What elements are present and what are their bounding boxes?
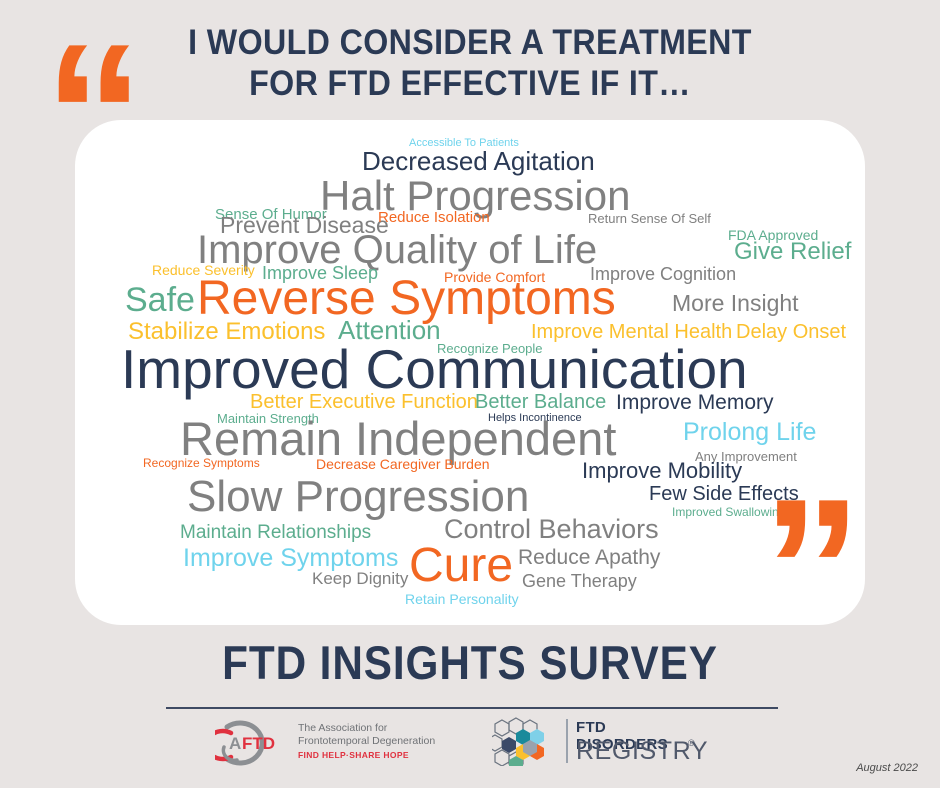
page-title: I WOULD CONSIDER A TREATMENT FOR FTD EFF… bbox=[38, 22, 903, 104]
ftd-registry-logo: FTD DISORDERS REGISTRY ® bbox=[492, 716, 702, 768]
wordcloud-word: Reduce Isolation bbox=[378, 210, 490, 225]
wordcloud-word: Maintain Relationships bbox=[180, 523, 371, 542]
aftd-swirl-icon: A FTD bbox=[215, 719, 295, 767]
wordcloud-word: Keep Dignity bbox=[312, 570, 408, 587]
wordcloud-word: Return Sense Of Self bbox=[588, 212, 711, 225]
aftd-logo: A FTD The Association for Frontotemporal… bbox=[215, 719, 450, 767]
wordcloud-word: Delay Onset bbox=[736, 322, 846, 342]
registry-logo-divider bbox=[566, 719, 568, 763]
wordcloud: Accessible To PatientsDecreased Agitatio… bbox=[75, 120, 865, 625]
wordcloud-word: Decreased Agitation bbox=[362, 148, 595, 174]
wordcloud-word: Slow Progression bbox=[187, 475, 529, 519]
registry-logo-registered-mark: ® bbox=[688, 738, 695, 748]
wordcloud-word: Improve Memory bbox=[616, 392, 774, 413]
aftd-logo-tagline: FIND HELP·SHARE HOPE bbox=[298, 749, 450, 761]
wordcloud-word: Improve Symptoms bbox=[183, 546, 398, 571]
page-title-line-2: FOR FTD EFFECTIVE IF IT… bbox=[38, 63, 903, 104]
svg-text:FTD: FTD bbox=[242, 734, 275, 753]
svg-text:A: A bbox=[229, 734, 241, 753]
wordcloud-word: Improved Communication bbox=[121, 342, 748, 397]
wordcloud-word: Remain Independent bbox=[180, 415, 616, 462]
page-title-line-1: I WOULD CONSIDER A TREATMENT bbox=[188, 23, 752, 62]
wordcloud-word: Improve Quality of Life bbox=[197, 230, 597, 270]
wordcloud-word: Better Executive Function bbox=[250, 392, 478, 412]
wordcloud-word: Improve Mobility bbox=[582, 460, 742, 482]
wordcloud-word: Gene Therapy bbox=[522, 572, 637, 590]
footer-divider bbox=[166, 707, 778, 709]
wordcloud-word: More Insight bbox=[672, 292, 799, 315]
wordcloud-word: Safe bbox=[125, 283, 195, 317]
wordcloud-word: Prolong Life bbox=[683, 420, 816, 445]
wordcloud-word: Better Balance bbox=[475, 392, 606, 412]
wordcloud-word: Decrease Caregiver Burden bbox=[316, 457, 490, 471]
aftd-logo-text: The Association for Frontotemporal Degen… bbox=[298, 722, 450, 761]
wordcloud-word: Give Relief bbox=[734, 240, 851, 264]
aftd-logo-line-1: The Association for bbox=[298, 722, 450, 735]
wordcloud-word: Recognize Symptoms bbox=[143, 457, 260, 469]
wordcloud-word: Cure bbox=[409, 542, 513, 590]
footer-headline: FTD INSIGHTS SURVEY bbox=[47, 637, 893, 689]
date-stamp: August 2022 bbox=[856, 762, 918, 774]
wordcloud-word: Reduce Apathy bbox=[518, 547, 660, 568]
hexagon-cluster-icon bbox=[492, 716, 564, 766]
aftd-logo-line-2: Frontotemporal Degeneration bbox=[298, 735, 450, 748]
wordcloud-word: Retain Personality bbox=[405, 592, 519, 606]
